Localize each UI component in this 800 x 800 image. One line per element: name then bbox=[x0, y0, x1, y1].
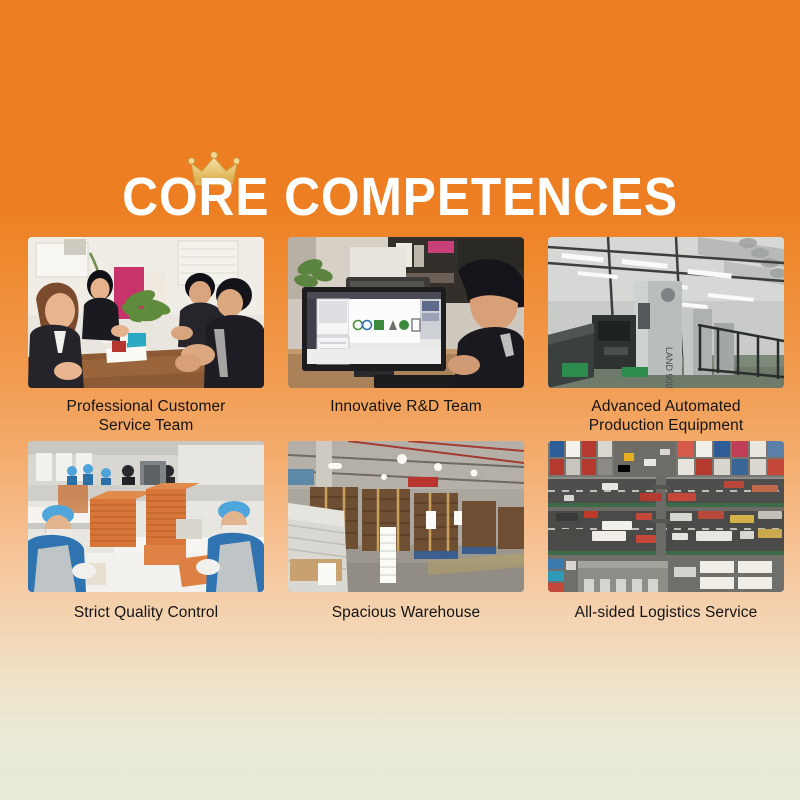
card-caption: Advanced Automated Production Equipment bbox=[548, 397, 784, 435]
designer-at-computer-photo bbox=[288, 237, 524, 388]
competence-card[interactable]: Strict Quality Control bbox=[28, 441, 264, 622]
card-caption: All-sided Logistics Service bbox=[548, 603, 784, 622]
caption-line-1: Advanced Automated bbox=[548, 397, 784, 416]
card-caption: Strict Quality Control bbox=[28, 603, 264, 622]
page-title: CORE COMPETENCES bbox=[122, 166, 678, 228]
svg-text:LAND 900: LAND 900 bbox=[664, 347, 674, 388]
card-caption: Professional Customer Service Team bbox=[28, 397, 264, 435]
competence-card[interactable]: Professional Customer Service Team bbox=[28, 237, 264, 435]
competence-card[interactable]: Innovative R&D Team bbox=[288, 237, 524, 435]
caption-line-1: Innovative R&D Team bbox=[288, 397, 524, 416]
competence-grid: Professional Customer Service Team bbox=[28, 237, 772, 622]
caption-line-2: Service Team bbox=[28, 416, 264, 435]
caption-line-1: Professional Customer bbox=[28, 397, 264, 416]
caption-line-1: Spacious Warehouse bbox=[288, 603, 524, 622]
business-meeting-photo bbox=[28, 237, 264, 388]
aerial-container-port-photo bbox=[548, 441, 784, 592]
competence-card[interactable]: LAND 900 bbox=[548, 237, 784, 435]
caption-line-1: All-sided Logistics Service bbox=[548, 603, 784, 622]
card-caption: Innovative R&D Team bbox=[288, 397, 524, 416]
caption-line-1: Strict Quality Control bbox=[28, 603, 264, 622]
printing-press-factory-photo: LAND 900 bbox=[548, 237, 784, 388]
card-caption: Spacious Warehouse bbox=[288, 603, 524, 622]
core-competences-banner: CORE COMPETENCES bbox=[0, 0, 800, 800]
title-block: CORE COMPETENCES bbox=[0, 150, 800, 228]
quality-inspection-workers-photo bbox=[28, 441, 264, 592]
competence-card[interactable]: All-sided Logistics Service bbox=[548, 441, 784, 622]
competence-card[interactable]: Spacious Warehouse bbox=[288, 441, 524, 622]
warehouse-pallets-photo bbox=[288, 441, 524, 592]
caption-line-2: Production Equipment bbox=[548, 416, 784, 435]
